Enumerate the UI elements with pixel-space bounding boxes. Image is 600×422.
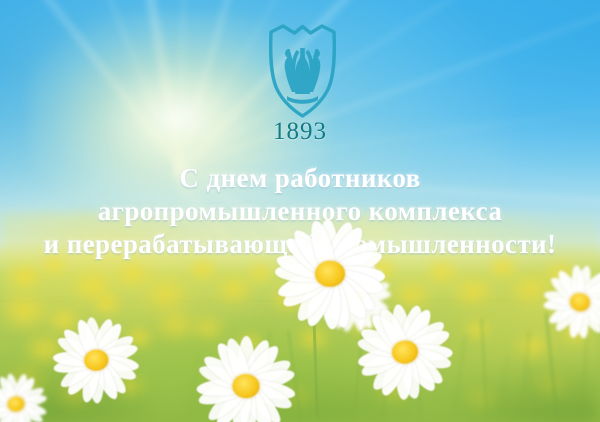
greeting-line-1-text: С днем работников <box>179 163 420 193</box>
wildflower-blob <box>192 262 214 277</box>
wildflower-blob <box>220 280 248 298</box>
wildflower-blob <box>250 266 270 280</box>
shield-emblem-svg <box>265 22 340 120</box>
wildflower-blob <box>492 260 514 275</box>
daisy-flower <box>189 329 303 422</box>
greeting-line-1: С днем работников <box>0 163 600 194</box>
wildflower-blob <box>78 276 108 296</box>
emblem-year: 1893 <box>0 118 600 146</box>
greeting-card: 1893 С днем работников агропромышленного… <box>0 0 600 422</box>
daisy-flower <box>270 214 390 334</box>
shield-emblem <box>265 22 340 120</box>
wildflower-blob <box>458 282 488 301</box>
emblem-inner-figures <box>285 48 321 104</box>
wildflower-blob <box>430 264 454 280</box>
daisy-flower <box>46 310 146 410</box>
wildflower-blob <box>12 268 38 286</box>
wildflower-blob <box>120 266 146 283</box>
wildflower-blob <box>44 258 64 272</box>
